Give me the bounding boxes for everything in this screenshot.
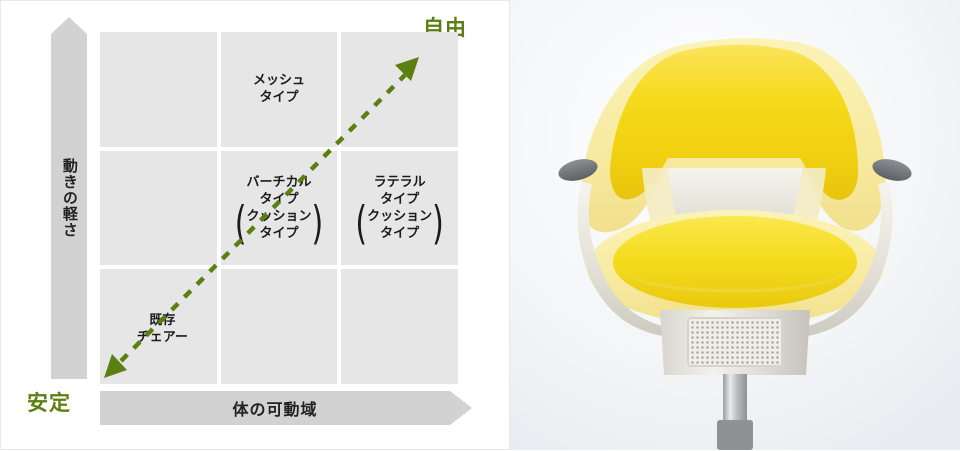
matrix-cell-sublabel-group: ( クッション タイプ )	[235, 208, 323, 242]
chair-illustration	[510, 0, 960, 450]
matrix-cell[interactable]	[341, 269, 458, 384]
chair-gas-lift	[723, 374, 747, 422]
matrix-cell-sublabel: クッション タイプ	[367, 208, 432, 242]
paren-open: (	[355, 203, 367, 248]
paren-close: )	[432, 203, 444, 248]
matrix-cell[interactable]	[221, 269, 338, 384]
positioning-matrix-diagram: 動きの軽さ 体の可動域 自由 安定 メッシュ タイプ バーチカル タイプ	[0, 0, 510, 450]
matrix-cell-label: バーチカル タイプ	[235, 174, 323, 208]
matrix-cell[interactable]	[341, 32, 458, 147]
paren-close: )	[312, 203, 324, 248]
chair-mesh-vent	[688, 318, 782, 366]
matrix-cell-sublabel: クッション タイプ	[246, 208, 311, 242]
matrix-cell-vertical-type[interactable]: バーチカル タイプ ( クッション タイプ )	[221, 151, 338, 266]
y-axis-label: 動きの軽さ	[51, 17, 87, 379]
matrix-cell[interactable]	[100, 151, 217, 266]
matrix-cell-mesh[interactable]: メッシュ タイプ	[221, 32, 338, 147]
chair-base-hub	[717, 420, 753, 450]
matrix-cell-label: ラテラル タイプ	[355, 174, 443, 208]
matrix-grid: メッシュ タイプ バーチカル タイプ ( クッション タイプ )	[100, 32, 458, 384]
matrix-cell-sublabel-group: ( クッション タイプ )	[355, 208, 443, 242]
matrix-cell[interactable]	[100, 32, 217, 147]
page-root: 動きの軽さ 体の可動域 自由 安定 メッシュ タイプ バーチカル タイプ	[0, 0, 960, 450]
matrix-cell-lateral-type[interactable]: ラテラル タイプ ( クッション タイプ )	[341, 151, 458, 266]
matrix-cell-label: メッシュ タイプ	[253, 72, 305, 106]
paren-open: (	[235, 203, 247, 248]
chair-photo	[510, 0, 960, 450]
pole-label-stable: 安定	[27, 393, 71, 414]
x-axis-label: 体の可動域	[100, 391, 450, 425]
matrix-cell-label: 既存 チェアー	[137, 312, 188, 346]
matrix-cell-existing-chair[interactable]: 既存 チェアー	[100, 269, 217, 384]
chair-seat-cushion	[613, 216, 857, 308]
